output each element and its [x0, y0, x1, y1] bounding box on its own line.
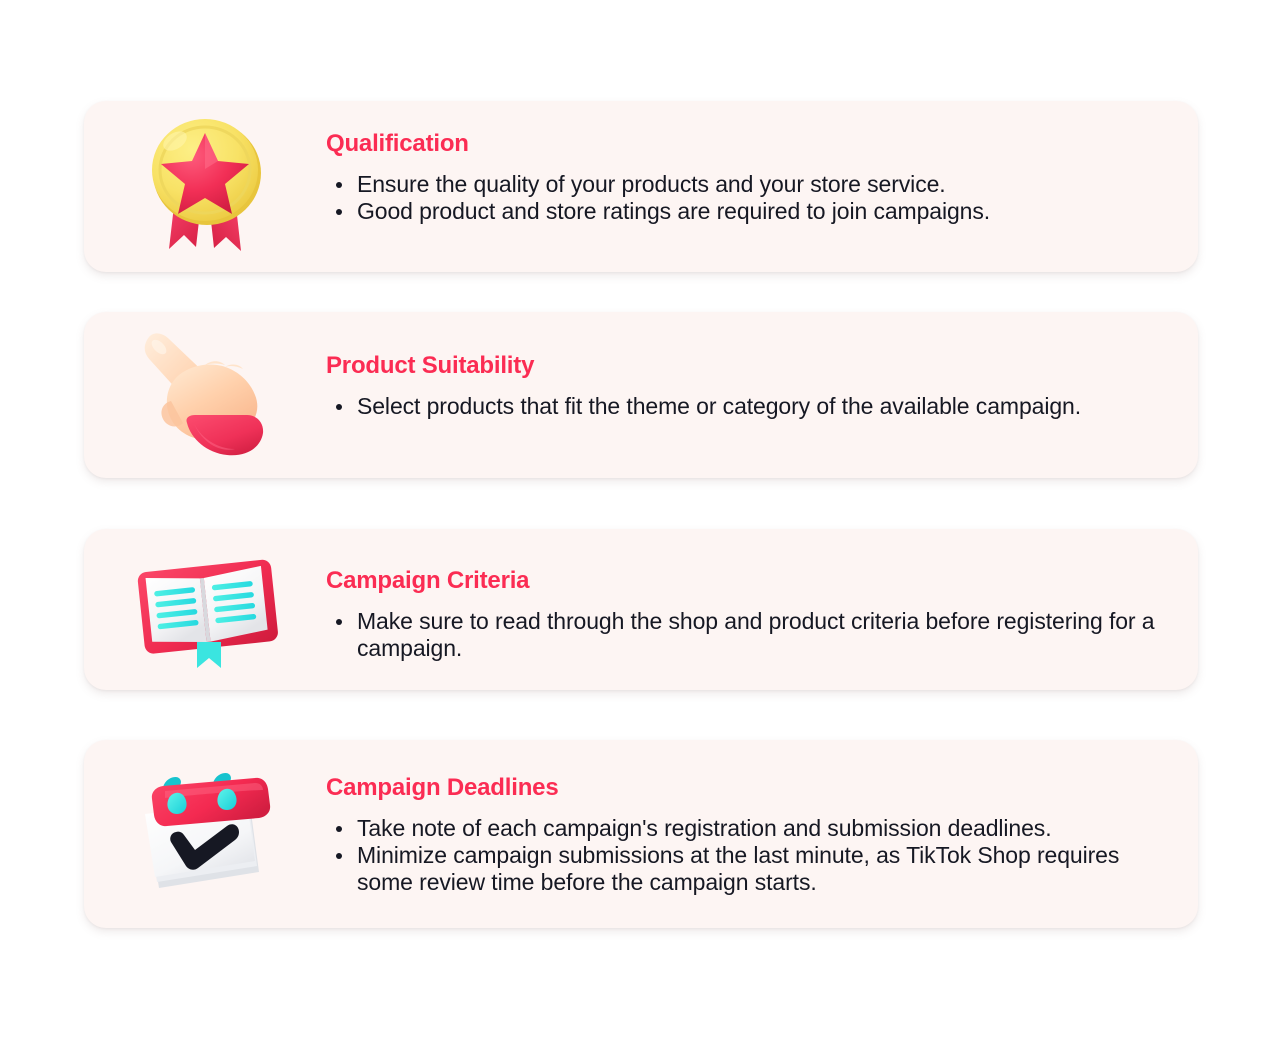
guideline-card-campaign-deadlines: Campaign Deadlines Take note of each cam… [84, 740, 1198, 928]
card-text: Campaign Criteria Make sure to read thro… [326, 529, 1198, 662]
guideline-card-product-suitability: Product Suitability Select products that… [84, 312, 1198, 478]
card-icon-slot [84, 101, 326, 272]
calendar-check-icon [129, 764, 281, 904]
bullet-item: Make sure to read through the shop and p… [326, 608, 1158, 662]
card-title: Campaign Criteria [326, 568, 1158, 594]
card-text: Qualification Ensure the quality of your… [326, 101, 1198, 225]
card-bullet-list: Ensure the quality of your products and … [326, 171, 1158, 225]
card-bullet-list: Select products that fit the theme or ca… [326, 393, 1158, 420]
bullet-item: Take note of each campaign's registratio… [326, 815, 1158, 842]
card-bullet-list: Make sure to read through the shop and p… [326, 608, 1158, 662]
guideline-card-campaign-criteria: Campaign Criteria Make sure to read thro… [84, 529, 1198, 690]
card-icon-slot [84, 312, 326, 478]
open-book-icon [125, 550, 285, 670]
card-icon-slot [84, 740, 326, 928]
card-bullet-list: Take note of each campaign's registratio… [326, 815, 1158, 896]
pointing-hand-icon [135, 329, 275, 461]
medal-ribbon-icon [139, 117, 271, 257]
card-text: Campaign Deadlines Take note of each cam… [326, 740, 1198, 896]
bullet-item: Select products that fit the theme or ca… [326, 393, 1158, 420]
bullet-item: Good product and store ratings are requi… [326, 198, 1158, 225]
card-icon-slot [84, 529, 326, 690]
card-title: Qualification [326, 131, 1158, 157]
card-text: Product Suitability Select products that… [326, 312, 1198, 420]
bullet-item: Minimize campaign submissions at the las… [326, 842, 1158, 896]
guideline-card-qualification: Qualification Ensure the quality of your… [84, 101, 1198, 272]
bullet-item: Ensure the quality of your products and … [326, 171, 1158, 198]
guidelines-board: Qualification Ensure the quality of your… [0, 0, 1280, 1047]
card-title: Product Suitability [326, 353, 1158, 379]
card-title: Campaign Deadlines [326, 775, 1158, 801]
